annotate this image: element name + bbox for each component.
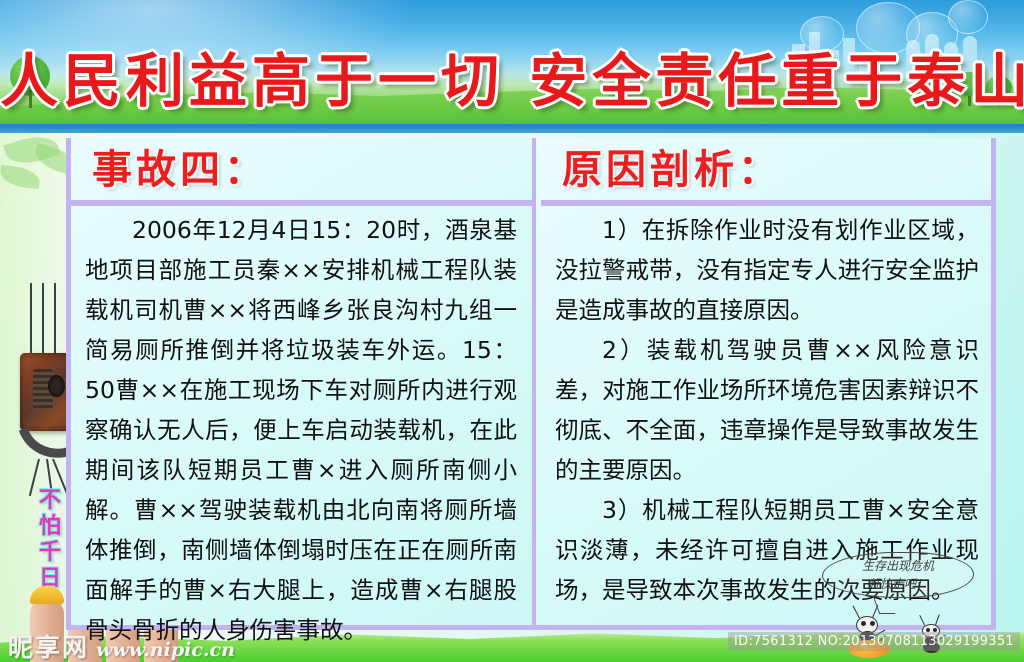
panel-accident-header: 事故四： bbox=[66, 138, 534, 202]
watermark-site-name: 昵享网 bbox=[8, 628, 89, 662]
panel-accident-body: 2006年12月4日15：20时，酒泉基地项目部施工员秦××安排机械工程队装载机… bbox=[71, 206, 529, 624]
panel-cause-title: 原因剖析： bbox=[562, 148, 782, 192]
poster-title: 人民利益高于一切 安全责任重于泰山 bbox=[0, 52, 1024, 110]
watermark-site: 昵享网 www.nipic.cn bbox=[8, 628, 235, 662]
panel-cause-header: 原因剖析： bbox=[536, 138, 996, 202]
speech-line-1: 生存出现危机 bbox=[830, 557, 966, 575]
accident-paragraph: 2006年12月4日15：20时，酒泉基地项目部施工员秦××安排机械工程队装载机… bbox=[85, 210, 517, 650]
cause-item: 2）装载机驾驶员曹××风险意识差，对施工作业场所环境危害因素辩识不彻底、不全面，… bbox=[555, 330, 979, 490]
panel-accident: 事故四： 2006年12月4日15：20时，酒泉基地项目部施工员秦××安排机械工… bbox=[66, 138, 534, 630]
speech-bubble-text: 生存出现危机 赶快走吧！ bbox=[830, 557, 966, 593]
cause-item: 1）在拆除作业时没有划作业区域，没拉警戒带，没有指定专人进行安全监护是造成事故的… bbox=[555, 210, 979, 330]
safety-poster: 人民利益高于一切 安全责任重于泰山 不怕千日紧 就怕一日松 bbox=[0, 0, 1024, 662]
watermark-id: ID:7561312 NO:20130708113029199351 bbox=[728, 632, 1020, 651]
speech-line-2: 赶快走吧！ bbox=[830, 575, 966, 593]
watermark-site-url: www.nipic.cn bbox=[96, 639, 235, 661]
poster-banner: 人民利益高于一切 安全责任重于泰山 bbox=[0, 0, 1024, 132]
panel-accident-title: 事故四： bbox=[92, 148, 268, 192]
banner-bottom-strip bbox=[0, 124, 1024, 133]
